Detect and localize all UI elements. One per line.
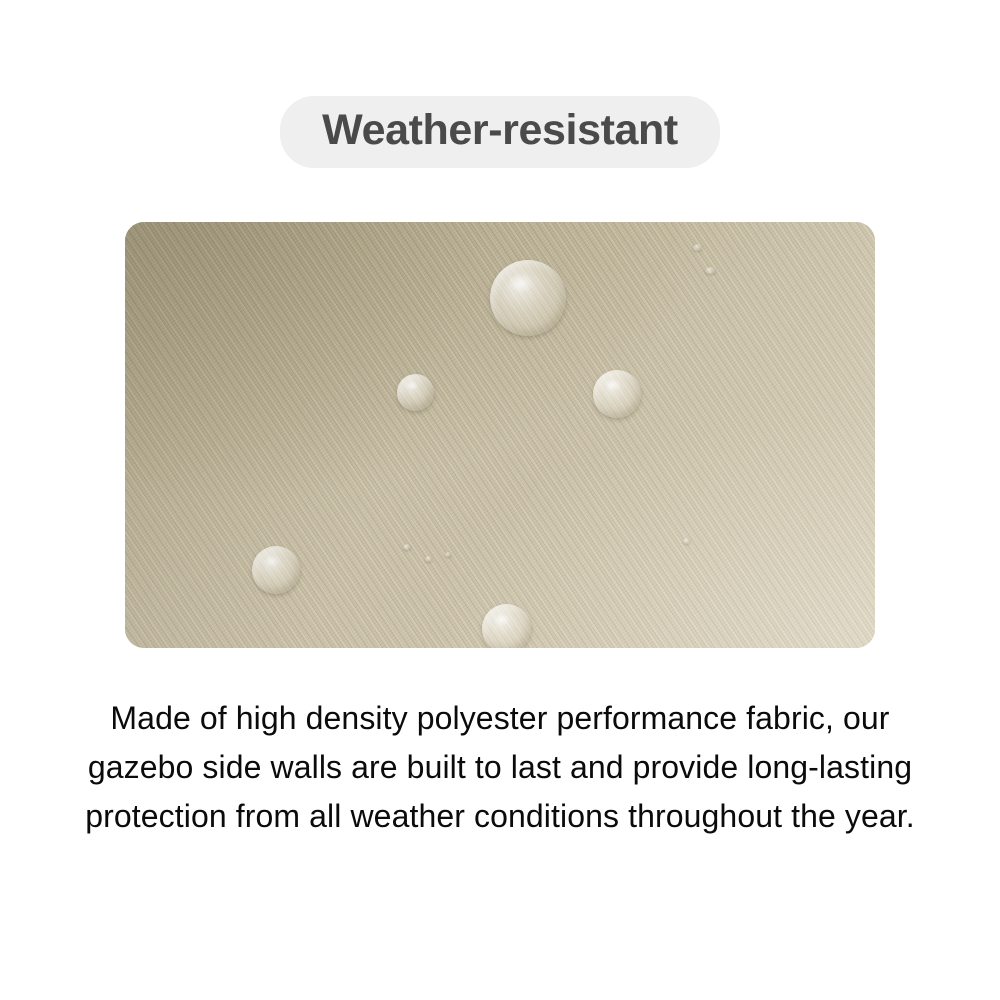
- fabric-water-beading-photo: [125, 222, 875, 648]
- product-feature-panel: Weather-resistant Made of high density p…: [0, 0, 1000, 1000]
- feature-description: Made of high density polyester performan…: [80, 694, 920, 841]
- weather-resistant-badge: Weather-resistant: [280, 96, 720, 168]
- fabric-shading-overlay: [125, 222, 875, 648]
- badge-label: Weather-resistant: [322, 106, 678, 154]
- badge-container: Weather-resistant: [0, 96, 1000, 168]
